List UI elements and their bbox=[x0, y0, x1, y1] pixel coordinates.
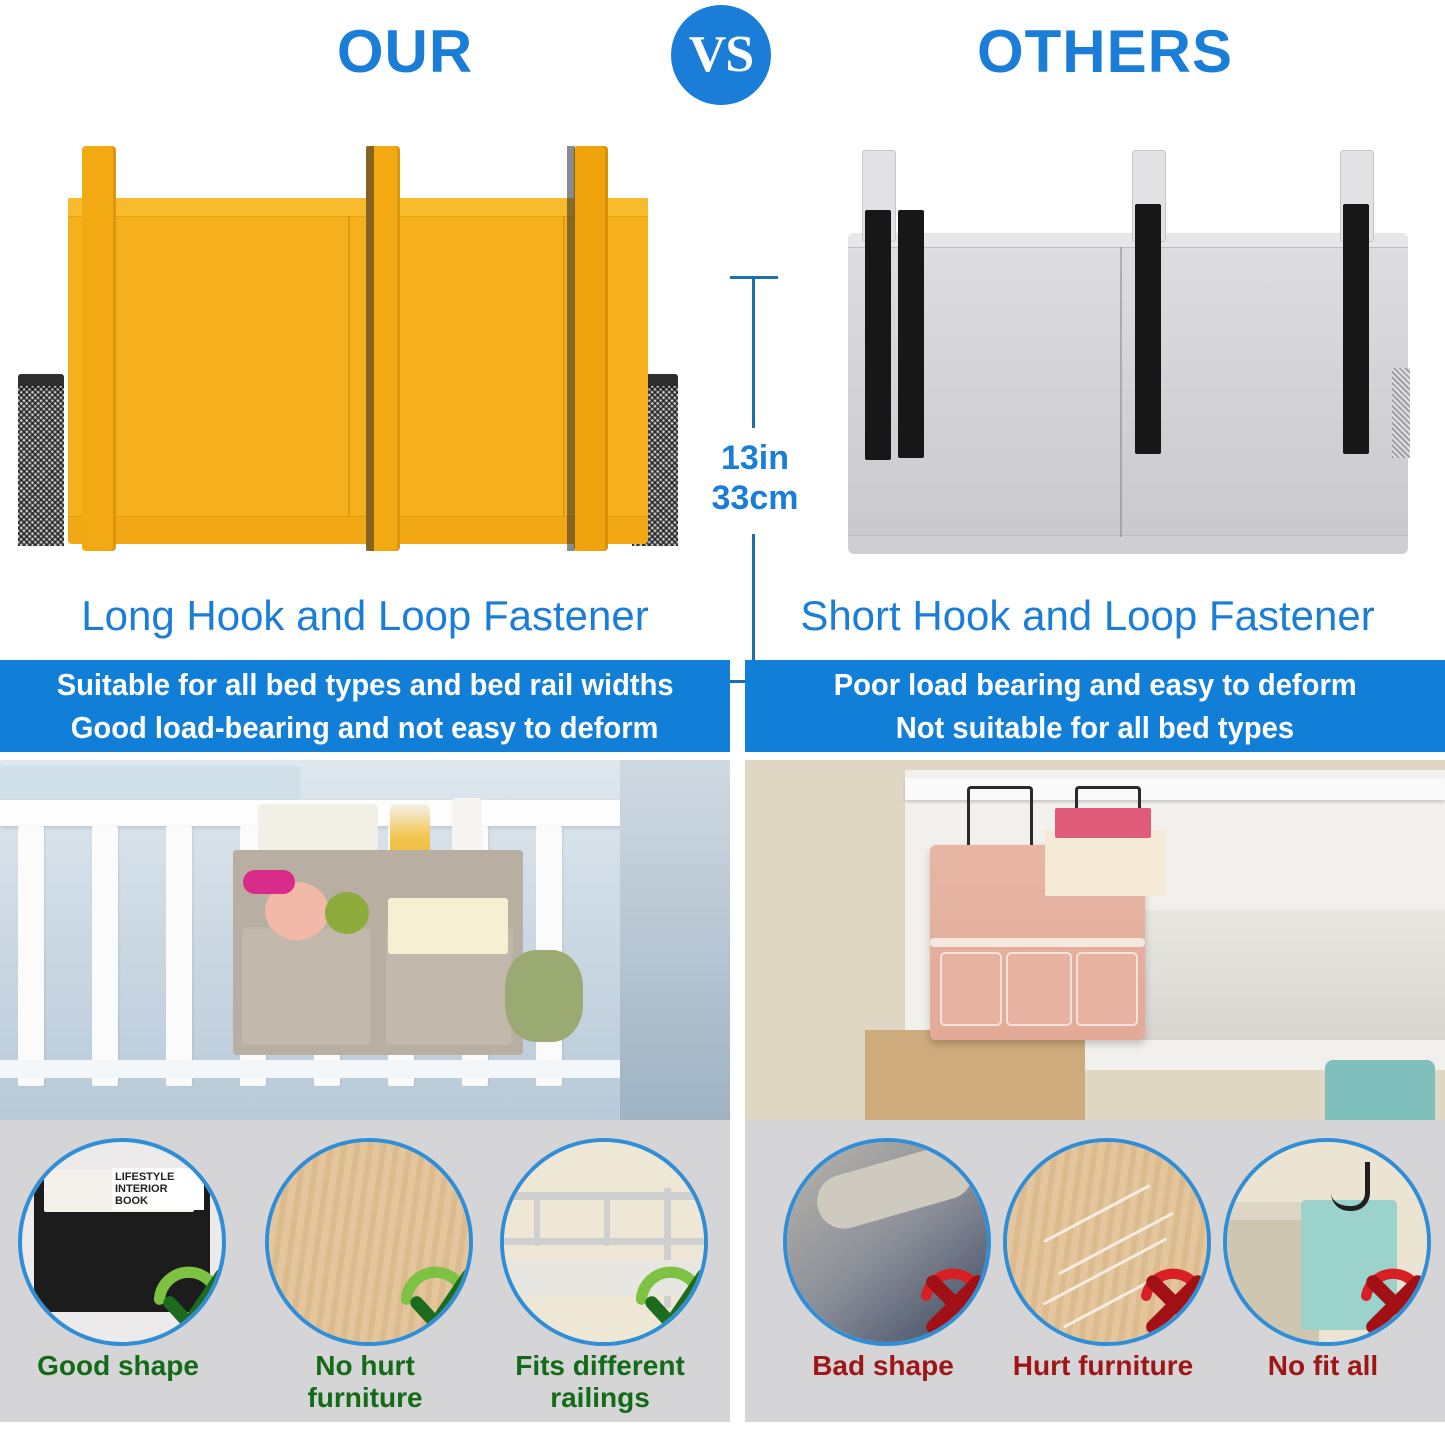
competitor-lifestyle-photo bbox=[745, 760, 1445, 1120]
competitor-drawback-line-2: Not suitable for all bed types bbox=[896, 706, 1294, 749]
book-cover-text: LIFESTYLE INTERIOR BOOK bbox=[112, 1168, 204, 1210]
organizer-body bbox=[68, 198, 648, 543]
competitor-product-image bbox=[820, 138, 1430, 568]
mesh-side-pocket-left bbox=[18, 386, 64, 546]
competitor-fastener-caption: Short Hook and Loop Fastener bbox=[730, 580, 1445, 652]
check-mark-icon bbox=[626, 1258, 708, 1344]
badge-label-no-hurt-furniture: No hurt furniture bbox=[265, 1350, 465, 1414]
our-benefit-line-1: Suitable for all bed types and bed rail … bbox=[57, 663, 674, 706]
check-mark-icon bbox=[144, 1258, 226, 1344]
organizer-seam bbox=[348, 216, 350, 516]
wire-hook-left-icon bbox=[967, 786, 1033, 849]
diaper-pack bbox=[388, 898, 508, 954]
competitor-drawback-line-1: Poor load bearing and easy to deform bbox=[833, 663, 1356, 706]
dimension-label: 13in 33cm bbox=[700, 438, 810, 518]
pink-pocket-3 bbox=[1076, 952, 1138, 1026]
badge-image-no-fit-all bbox=[1223, 1138, 1431, 1346]
others-title: OTHERS bbox=[880, 16, 1330, 88]
vs-badge-label: VS bbox=[671, 5, 771, 105]
stored-package bbox=[1055, 808, 1151, 838]
badge-good-shape: LIFESTYLE INTERIOR BOOK Good shape bbox=[18, 1138, 218, 1346]
badge-label-bad-shape: Bad shape bbox=[783, 1350, 983, 1382]
wipes-pack bbox=[258, 804, 378, 852]
badge-image-good-shape: LIFESTYLE INTERIOR BOOK bbox=[18, 1138, 226, 1346]
cross-mark-icon bbox=[909, 1258, 991, 1344]
pink-organizer-rim bbox=[930, 938, 1145, 947]
competitor-seam bbox=[1120, 247, 1122, 537]
our-benefit-line-2: Good load-bearing and not easy to deform bbox=[71, 706, 659, 749]
badge-image-bad-shape bbox=[783, 1138, 991, 1346]
strap-shadow-edge bbox=[366, 146, 374, 551]
organizer-seam bbox=[563, 216, 565, 516]
crib-side-panel bbox=[620, 760, 730, 1120]
railing-post bbox=[534, 1192, 540, 1246]
competitor-bottom-edge bbox=[848, 535, 1408, 554]
badge-image-no-hurt-furniture bbox=[265, 1138, 473, 1346]
competitor-drawbacks-banner: Poor load bearing and easy to deform Not… bbox=[745, 660, 1445, 752]
badge-no-fit-all: No fit all bbox=[1223, 1138, 1423, 1346]
strap-shadow-edge bbox=[567, 146, 575, 551]
our-badges-panel: LIFESTYLE INTERIOR BOOK Good shape No hu… bbox=[0, 1120, 730, 1422]
pink-pocket-2 bbox=[1006, 952, 1072, 1026]
badge-image-hurt-furniture bbox=[1003, 1138, 1211, 1346]
badge-label-good-shape: Good shape bbox=[18, 1350, 218, 1382]
vs-badge-icon: VS bbox=[671, 5, 771, 105]
product-comparison-row: 13in 33cm bbox=[0, 128, 1445, 580]
cross-mark-icon bbox=[1349, 1258, 1431, 1344]
plush-toy-green bbox=[325, 892, 369, 934]
railing-post bbox=[604, 1192, 610, 1246]
competitor-mesh-pocket bbox=[1392, 368, 1410, 458]
our-fastener-caption: Long Hook and Loop Fastener bbox=[0, 580, 730, 652]
our-title: OUR bbox=[240, 16, 570, 88]
competitor-top-edge bbox=[848, 233, 1408, 248]
plush-toy-ear bbox=[243, 870, 295, 894]
badge-hurt-furniture: Hurt furniture bbox=[1003, 1138, 1203, 1346]
organizer-bottom-band bbox=[68, 516, 648, 544]
long-fastener-strap-3 bbox=[574, 146, 608, 551]
our-benefits-banner: Suitable for all bed types and bed rail … bbox=[0, 660, 730, 752]
velcro-patch-1 bbox=[865, 210, 891, 460]
dimension-inches: 13in bbox=[700, 438, 810, 478]
dimension-centimeters: 33cm bbox=[700, 478, 810, 518]
long-fastener-strap-1 bbox=[82, 146, 116, 551]
check-mark-icon bbox=[391, 1258, 473, 1344]
pink-pocket-1 bbox=[940, 952, 1002, 1026]
badge-fits-different-railings: Fits different railings bbox=[500, 1138, 700, 1346]
badge-label-fits-railings: Fits different railings bbox=[500, 1350, 700, 1414]
teal-chair bbox=[1325, 1060, 1435, 1120]
velcro-patch-3 bbox=[1343, 204, 1369, 454]
badge-bad-shape: Bad shape bbox=[783, 1138, 983, 1346]
organizer-front-pocket-left bbox=[241, 925, 371, 1045]
competitor-badges-panel: Bad shape Hurt furniture bbox=[745, 1120, 1445, 1422]
competitor-body bbox=[848, 233, 1408, 553]
metal-hook-icon bbox=[1331, 1162, 1370, 1211]
dimension-line-top bbox=[752, 276, 755, 428]
cardboard-box bbox=[865, 1030, 1085, 1120]
comparison-header: OUR VS OTHERS bbox=[0, 0, 1445, 128]
hanging-plush-dinosaur bbox=[505, 950, 583, 1042]
crib-slat bbox=[18, 826, 44, 1086]
lifestyle-photo-row bbox=[0, 760, 1445, 1120]
feature-badge-strip: LIFESTYLE INTERIOR BOOK Good shape No hu… bbox=[0, 1120, 1445, 1429]
velcro-patch-2 bbox=[1135, 204, 1161, 454]
badge-no-hurt-furniture: No hurt furniture bbox=[265, 1138, 465, 1346]
badge-image-fits-railings bbox=[500, 1138, 708, 1346]
our-product-lifestyle-photo bbox=[0, 760, 730, 1120]
crib-slat bbox=[92, 826, 118, 1086]
badge-label-hurt-furniture: Hurt furniture bbox=[1003, 1350, 1203, 1382]
stored-book bbox=[1045, 830, 1165, 896]
badge-label-no-fit-all: No fit all bbox=[1223, 1350, 1423, 1382]
our-product-image bbox=[18, 138, 678, 568]
organizer-top-band bbox=[68, 198, 648, 217]
cross-mark-icon bbox=[1129, 1258, 1211, 1344]
crib-slat bbox=[166, 826, 192, 1086]
velcro-patch-1b bbox=[898, 210, 924, 458]
